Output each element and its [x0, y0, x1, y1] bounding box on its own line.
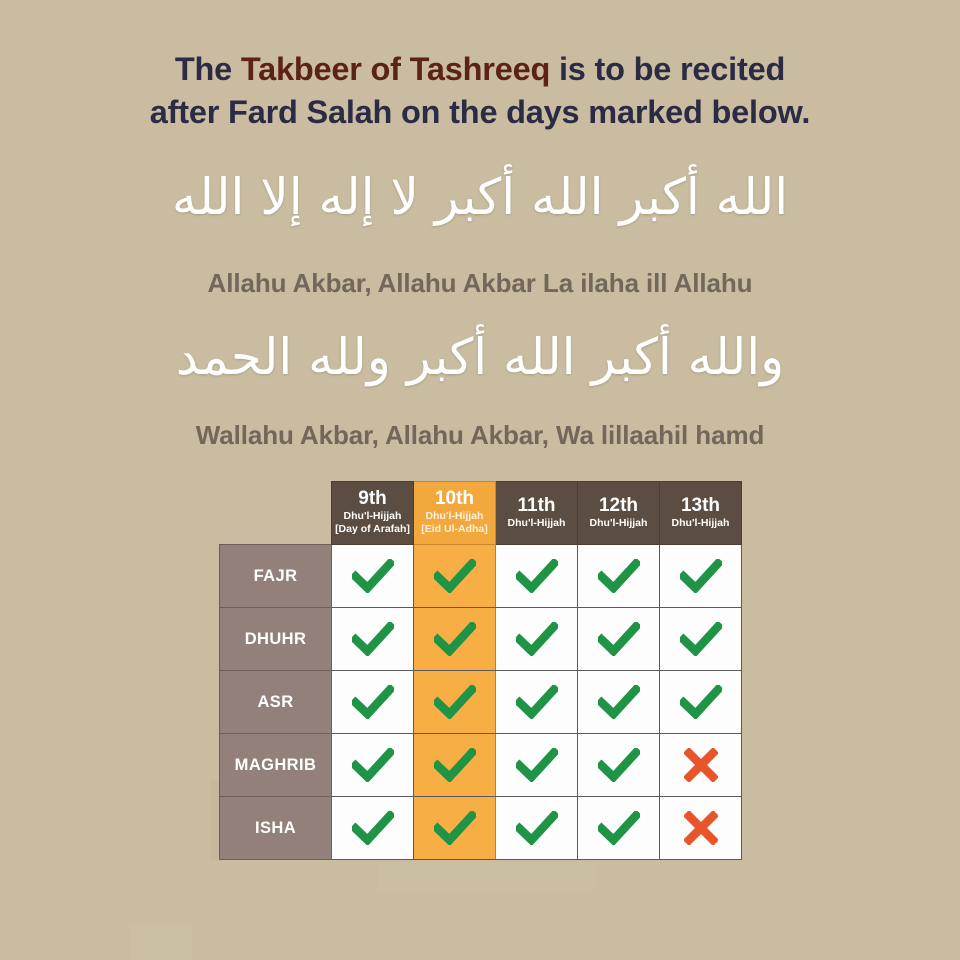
cell-isha-12th — [578, 797, 660, 860]
check-icon — [578, 609, 659, 670]
cell-isha-13th — [660, 797, 742, 860]
header-corner-spacer — [220, 482, 332, 545]
cell-fajr-13th — [660, 545, 742, 608]
table-row: FAJR — [220, 545, 742, 608]
table-row: ISHA — [220, 797, 742, 860]
check-icon — [496, 546, 577, 607]
cell-dhuhr-12th — [578, 608, 660, 671]
prayer-label-maghrib: MAGHRIB — [220, 734, 332, 797]
table-column-header-11th: 11thDhu'l-Hijjah — [496, 482, 578, 545]
cell-dhuhr-10th — [414, 608, 496, 671]
check-icon — [578, 798, 659, 859]
cell-isha-11th — [496, 797, 578, 860]
check-icon — [414, 609, 495, 670]
check-icon — [496, 609, 577, 670]
cell-asr-13th — [660, 671, 742, 734]
table-row: ASR — [220, 671, 742, 734]
title-line-2: after Fard Salah on the days marked belo… — [150, 94, 810, 130]
cell-maghrib-12th — [578, 734, 660, 797]
takbeer-schedule-table-wrapper: 9thDhu'l-Hijjah[Day of Arafah]10thDhu'l-… — [219, 481, 741, 860]
table-column-header-9th: 9thDhu'l-Hijjah[Day of Arafah] — [332, 482, 414, 545]
cell-asr-9th — [332, 671, 414, 734]
cross-icon — [660, 735, 741, 796]
table-column-header-13th: 13thDhu'l-Hijjah — [660, 482, 742, 545]
table-header-row: 9thDhu'l-Hijjah[Day of Arafah]10thDhu'l-… — [220, 482, 742, 545]
cell-isha-10th — [414, 797, 496, 860]
table-row: MAGHRIB — [220, 734, 742, 797]
transliteration-line-1: Allahu Akbar, Allahu Akbar La ilaha ill … — [0, 268, 960, 299]
cell-dhuhr-13th — [660, 608, 742, 671]
check-icon — [660, 672, 741, 733]
check-icon — [414, 735, 495, 796]
check-icon — [496, 672, 577, 733]
column-header-month: Dhu'l-Hijjah — [580, 517, 657, 530]
poster-canvas: The Takbeer of Tashreeq is to be recited… — [0, 0, 960, 960]
cell-maghrib-10th — [414, 734, 496, 797]
cell-fajr-11th — [496, 545, 578, 608]
check-icon — [496, 735, 577, 796]
column-header-month: Dhu'l-Hijjah — [416, 510, 493, 523]
arabic-dhikr-line-2: والله أكبر الله أكبر ولله الحمد — [0, 326, 960, 389]
check-icon — [414, 798, 495, 859]
table-row: DHUHR — [220, 608, 742, 671]
title-highlight: Takbeer of Tashreeq — [241, 51, 550, 87]
arabic-dhikr-line-1: الله أكبر الله أكبر لا إله إلا الله — [0, 166, 960, 229]
check-icon — [578, 546, 659, 607]
column-header-day: 12th — [580, 496, 657, 516]
column-header-note: [Eid Ul-Adha] — [416, 523, 493, 536]
check-icon — [578, 672, 659, 733]
cell-isha-9th — [332, 797, 414, 860]
title-suffix: is to be recited — [550, 51, 785, 87]
cell-dhuhr-11th — [496, 608, 578, 671]
cell-maghrib-13th — [660, 734, 742, 797]
check-icon — [332, 672, 413, 733]
check-icon — [414, 672, 495, 733]
cross-icon — [660, 798, 741, 859]
prayer-label-fajr: FAJR — [220, 545, 332, 608]
check-icon — [414, 546, 495, 607]
cell-maghrib-9th — [332, 734, 414, 797]
check-icon — [332, 735, 413, 796]
cell-fajr-12th — [578, 545, 660, 608]
table-body: FAJRDHUHRASRMAGHRIBISHA — [220, 545, 742, 860]
title-prefix: The — [175, 51, 241, 87]
check-icon — [660, 546, 741, 607]
cell-maghrib-11th — [496, 734, 578, 797]
cell-asr-11th — [496, 671, 578, 734]
prayer-label-dhuhr: DHUHR — [220, 608, 332, 671]
page-title: The Takbeer of Tashreeq is to be recited… — [0, 48, 960, 134]
image-artifact — [378, 862, 596, 890]
column-header-day: 10th — [416, 489, 493, 509]
prayer-label-asr: ASR — [220, 671, 332, 734]
column-header-month: Dhu'l-Hijjah — [498, 517, 575, 530]
image-artifact — [130, 925, 192, 960]
check-icon — [332, 609, 413, 670]
transliteration-line-2: Wallahu Akbar, Allahu Akbar, Wa lillaahi… — [0, 420, 960, 451]
cell-fajr-9th — [332, 545, 414, 608]
column-header-day: 13th — [662, 496, 739, 516]
check-icon — [578, 735, 659, 796]
prayer-label-isha: ISHA — [220, 797, 332, 860]
column-header-day: 11th — [498, 496, 575, 516]
table-head: 9thDhu'l-Hijjah[Day of Arafah]10thDhu'l-… — [220, 482, 742, 545]
column-header-day: 9th — [334, 489, 411, 509]
table-column-header-10th: 10thDhu'l-Hijjah[Eid Ul-Adha] — [414, 482, 496, 545]
cell-asr-10th — [414, 671, 496, 734]
cell-asr-12th — [578, 671, 660, 734]
check-icon — [660, 609, 741, 670]
column-header-month: Dhu'l-Hijjah — [662, 517, 739, 530]
cell-fajr-10th — [414, 545, 496, 608]
check-icon — [332, 546, 413, 607]
check-icon — [496, 798, 577, 859]
column-header-note: [Day of Arafah] — [334, 523, 411, 536]
table-column-header-12th: 12thDhu'l-Hijjah — [578, 482, 660, 545]
takbeer-schedule-table: 9thDhu'l-Hijjah[Day of Arafah]10thDhu'l-… — [219, 481, 742, 860]
column-header-month: Dhu'l-Hijjah — [334, 510, 411, 523]
cell-dhuhr-9th — [332, 608, 414, 671]
check-icon — [332, 798, 413, 859]
